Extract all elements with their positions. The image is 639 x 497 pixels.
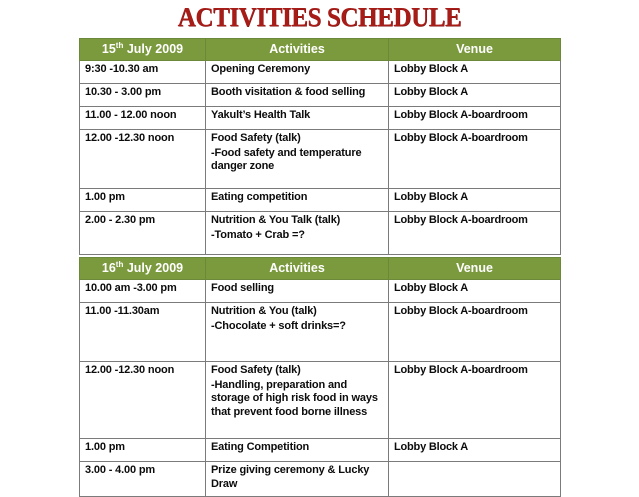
activity-description: -Handling, preparation and storage of hi… [211,379,384,420]
cell-time: 11.00 -11.30am [80,303,206,362]
table-header-row-day2: 16th July 2009 Activities Venue [80,258,561,280]
cell-venue: Lobby Block A [389,84,561,107]
cell-activity: Booth visitation & food selling [206,84,389,107]
cell-activity: Food selling [206,280,389,303]
table-row: 9:30 -10.30 am Opening Ceremony Lobby Bl… [80,61,561,84]
page-title: ACTIVITIES SCHEDULE [178,2,462,32]
activity-title: Nutrition & You Talk (talk) [211,214,384,228]
column-header-venue-day1: Venue [389,39,561,61]
date-label-day1-rest: July 2009 [123,42,183,56]
cell-venue: Lobby Block A-boardroom [389,212,561,255]
date-label-day1-main: 15 [102,42,116,56]
cell-time: 12.00 -12.30 noon [80,130,206,189]
cell-time: 11.00 - 12.00 noon [80,107,206,130]
cell-venue: Lobby Block A [389,189,561,212]
cell-activity: Prize giving ceremony & Lucky Draw [206,462,389,497]
cell-venue: Lobby Block A-boardroom [389,362,561,439]
cell-venue [389,462,561,497]
cell-time: 12.00 -12.30 noon [80,362,206,439]
table-header-row-day1: 15th July 2009 Activities Venue [80,39,561,61]
activity-title: Yakult’s Health Talk [211,109,384,123]
cell-venue: Lobby Block A-boardroom [389,107,561,130]
cell-time: 10.00 am -3.00 pm [80,280,206,303]
cell-activity: Nutrition & You (talk) -Chocolate + soft… [206,303,389,362]
table-row: 12.00 -12.30 noon Food Safety (talk) -Ha… [80,362,561,439]
activity-title: Prize giving ceremony & Lucky Draw [211,464,384,491]
activity-description: -Chocolate + soft drinks=? [211,320,384,334]
table-row: 2.00 - 2.30 pm Nutrition & You Talk (tal… [80,212,561,255]
activity-title: Food Safety (talk) [211,364,384,378]
activity-title: Nutrition & You (talk) [211,305,384,319]
column-header-venue-day2: Venue [389,258,561,280]
table-row: 11.00 -11.30am Nutrition & You (talk) -C… [80,303,561,362]
cell-time: 1.00 pm [80,189,206,212]
table-row: 1.00 pm Eating competition Lobby Block A [80,189,561,212]
activity-title: Eating competition [211,191,384,205]
cell-venue: Lobby Block A-boardroom [389,130,561,189]
cell-time: 1.00 pm [80,439,206,462]
cell-activity: Eating Competition [206,439,389,462]
activity-title: Opening Ceremony [211,63,384,77]
cell-activity: Opening Ceremony [206,61,389,84]
cell-venue: Lobby Block A-boardroom [389,303,561,362]
cell-activity: Yakult’s Health Talk [206,107,389,130]
cell-activity: Food Safety (talk) -Food safety and temp… [206,130,389,189]
activity-description: -Food safety and temperature danger zone [211,147,384,174]
table-row: 12.00 -12.30 noon Food Safety (talk) -Fo… [80,130,561,189]
activity-title: Booth visitation & food selling [211,86,384,100]
activity-description: -Tomato + Crab =? [211,229,384,243]
cell-time: 9:30 -10.30 am [80,61,206,84]
page-title-container: ACTIVITIES SCHEDULE [0,2,639,32]
date-label-day2-rest: July 2009 [123,261,183,275]
cell-activity: Nutrition & You Talk (talk) -Tomato + Cr… [206,212,389,255]
cell-activity: Food Safety (talk) -Handling, preparatio… [206,362,389,439]
cell-activity: Eating competition [206,189,389,212]
activity-title: Eating Competition [211,441,384,455]
table-row: 10.30 - 3.00 pm Booth visitation & food … [80,84,561,107]
cell-time: 10.30 - 3.00 pm [80,84,206,107]
cell-time: 3.00 - 4.00 pm [80,462,206,497]
table-row: 10.00 am -3.00 pm Food selling Lobby Blo… [80,280,561,303]
column-header-date-day1: 15th July 2009 [80,39,206,61]
table-row: 11.00 - 12.00 noon Yakult’s Health Talk … [80,107,561,130]
activities-schedule-table: 15th July 2009 Activities Venue 9:30 -10… [79,38,561,497]
cell-time: 2.00 - 2.30 pm [80,212,206,255]
column-header-activities-day1: Activities [206,39,389,61]
activity-title: Food Safety (talk) [211,132,384,146]
activity-title: Food selling [211,282,384,296]
column-header-activities-day2: Activities [206,258,389,280]
table-row: 3.00 - 4.00 pm Prize giving ceremony & L… [80,462,561,497]
table-row: 1.00 pm Eating Competition Lobby Block A [80,439,561,462]
cell-venue: Lobby Block A [389,280,561,303]
cell-venue: Lobby Block A [389,439,561,462]
schedule-page: ACTIVITIES SCHEDULE 15th July 2009 Activ… [0,0,639,479]
cell-venue: Lobby Block A [389,61,561,84]
date-label-day2-main: 16 [102,261,116,275]
column-header-date-day2: 16th July 2009 [80,258,206,280]
